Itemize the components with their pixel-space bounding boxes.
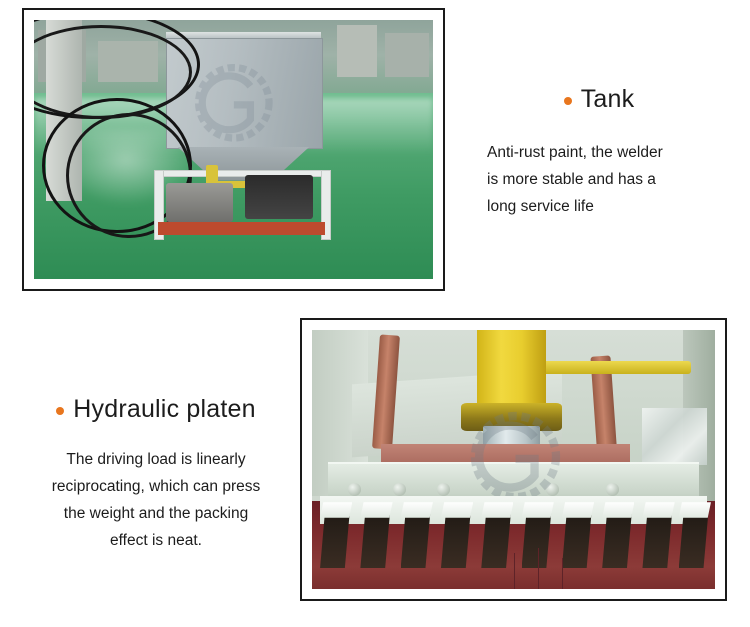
stray-wire [562,558,563,589]
pressed-block-cap [562,502,594,518]
pressed-block-cap [360,502,392,518]
pressed-block-cap [679,502,711,518]
insulation-foil [642,408,706,465]
tank-text-block: Tank Anti-rust paint, the welder is more… [470,85,728,220]
hydraulic-platen-body-line: The driving load is linearly [22,446,290,473]
hydraulic-platen-body-text: The driving load is linearly reciprocati… [22,446,290,554]
tank-photo [34,20,433,279]
background-machine-c [337,25,377,77]
stray-wire [514,553,515,589]
stray-wire [538,548,539,589]
product-feature-page: Tank Anti-rust paint, the welder is more… [0,0,750,627]
hydraulic-platen-body-line: reciprocating, which can press [22,473,290,500]
background-machine-d [385,33,429,77]
hydraulic-cylinder [477,330,546,408]
hydraulic-platen-body-line: the weight and the packing [22,500,290,527]
hydraulic-platen-text-block: Hydraulic platen The driving load is lin… [22,395,290,554]
platen-bolt [437,483,450,496]
platen-bolt [546,483,559,496]
red-base-plate [158,222,326,235]
tank-heading: Tank [470,85,728,114]
electric-motor [245,175,313,219]
tank-photo-scene [34,20,433,279]
hydraulic-platen-photo [312,330,715,589]
hydraulic-platen-body-line: effect is neat. [22,527,290,554]
tank-body-text: Anti-rust paint, the welder is more stab… [470,139,728,220]
hydraulic-pump [166,183,234,222]
pressed-block-cap [642,502,674,518]
platen-bolt [348,483,361,496]
pressed-block-cap [441,502,473,518]
platen-bolt [393,483,406,496]
pressed-block-cap [320,502,352,518]
tank-photo-frame [22,8,445,291]
bullet-dot-icon [564,97,572,105]
yellow-pipe [542,361,691,374]
hydraulic-platen-heading-label: Hydraulic platen [73,395,255,424]
tank-body-line: long service life [487,193,728,220]
pressed-block-cap [602,502,634,518]
hydraulic-platen-heading: Hydraulic platen [22,395,290,424]
pressed-block-cap [522,502,554,518]
tank-body-line: is more stable and has a [487,166,728,193]
tank-heading-label: Tank [581,85,635,114]
tank-body-line: Anti-rust paint, the welder [487,139,728,166]
bullet-dot-icon [56,407,64,415]
pressed-block-cap [401,502,433,518]
platen-bolt [606,483,619,496]
hydraulic-platen-photo-frame [300,318,727,601]
pressed-block-cap [481,502,513,518]
hydraulic-platen-photo-scene [312,330,715,589]
